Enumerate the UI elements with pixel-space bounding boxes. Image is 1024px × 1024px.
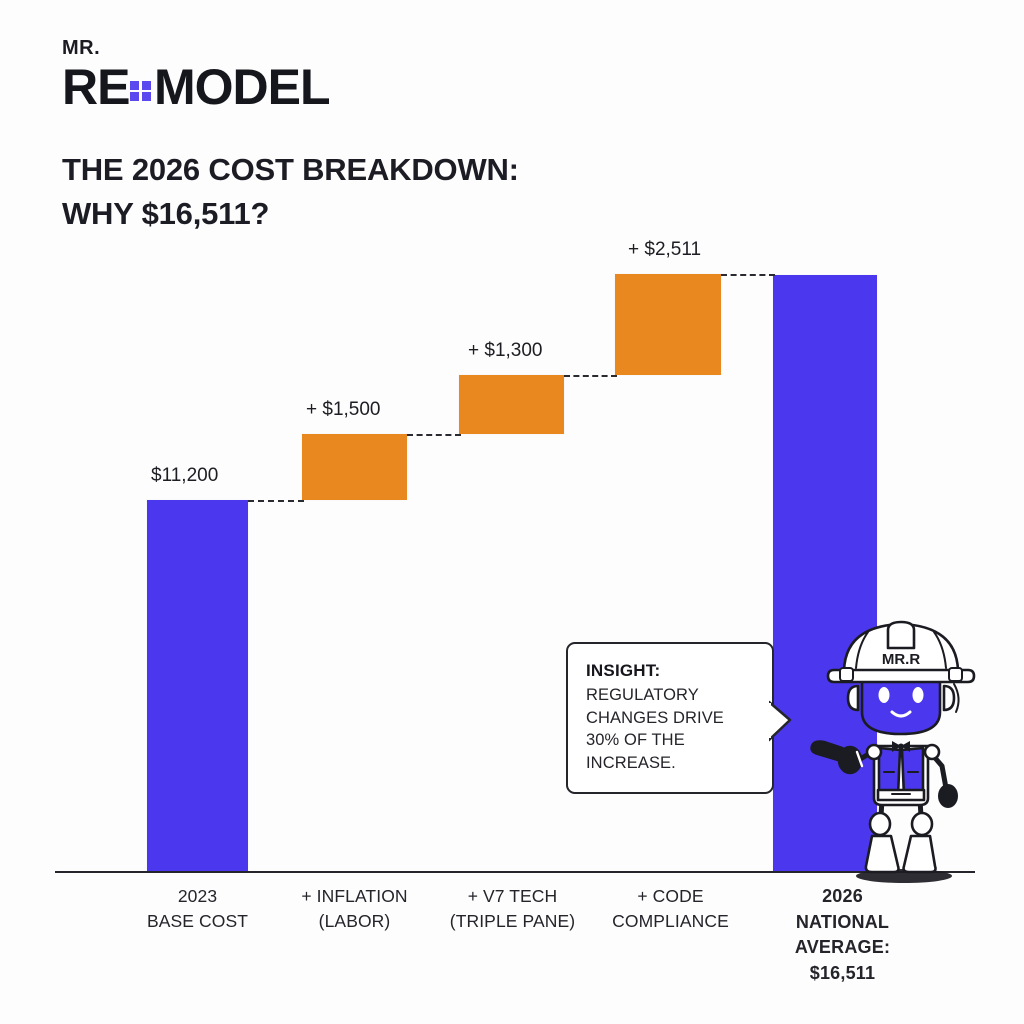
- value-label-code-compliance: + $2,511: [628, 239, 701, 261]
- insight-body-line-3: 30% OF THE: [586, 729, 756, 752]
- x-label-line-2: (TRIPLE PANE): [430, 909, 595, 934]
- bar-inflation-labor: [302, 434, 407, 500]
- x-label-line-4: $16,511: [760, 961, 925, 987]
- x-label-line-1: + INFLATION: [272, 884, 437, 909]
- callout-pointer-icon: [769, 700, 793, 744]
- x-label-line-2: BASE COST: [120, 909, 275, 934]
- x-label-line-1: + CODE: [588, 884, 753, 909]
- x-axis-label-code-compliance: + CODE COMPLIANCE: [588, 884, 753, 934]
- connector-4: [721, 274, 775, 276]
- connector-1: [248, 500, 304, 502]
- x-label-line-1: + V7 TECH: [430, 884, 595, 909]
- bar-v7-tech-triple-pane: [459, 375, 564, 434]
- bar-2023-base-cost: [147, 500, 248, 871]
- x-label-line-3: AVERAGE:: [760, 935, 925, 961]
- x-axis-label-2026-national-average: 2026 NATIONAL AVERAGE: $16,511: [760, 884, 925, 986]
- value-label-2023-base-cost: $11,200: [151, 465, 218, 487]
- x-label-line-2: NATIONAL: [760, 910, 925, 936]
- value-label-inflation-labor: + $1,500: [306, 399, 381, 421]
- infographic-canvas: MR. RE MODEL THE 2026 COST BREAKDOWN: WH…: [0, 0, 1024, 1024]
- connector-3: [564, 375, 617, 377]
- x-label-line-2: COMPLIANCE: [588, 909, 753, 934]
- x-label-line-2: (LABOR): [272, 909, 437, 934]
- insight-body-line-1: REGULATORY: [586, 684, 756, 707]
- x-axis-label-2023-base-cost: 2023 BASE COST: [120, 884, 275, 934]
- insight-callout: INSIGHT: REGULATORY CHANGES DRIVE 30% OF…: [566, 642, 774, 794]
- insight-callout-body: REGULATORY CHANGES DRIVE 30% OF THE INCR…: [586, 684, 756, 774]
- insight-body-line-2: CHANGES DRIVE: [586, 707, 756, 730]
- x-label-line-1: 2023: [120, 884, 275, 909]
- insight-callout-title: INSIGHT:: [586, 660, 756, 683]
- x-axis-label-v7-tech: + V7 TECH (TRIPLE PANE): [430, 884, 595, 934]
- bar-code-compliance: [615, 274, 721, 375]
- x-axis-label-inflation-labor: + INFLATION (LABOR): [272, 884, 437, 934]
- insight-body-line-4: INCREASE.: [586, 752, 756, 775]
- connector-2: [407, 434, 461, 436]
- helmet-label: MR.R: [882, 651, 920, 668]
- mr-r-robot-mascot: MR.R: [796, 600, 1006, 890]
- value-label-v7-tech: + $1,300: [468, 340, 543, 362]
